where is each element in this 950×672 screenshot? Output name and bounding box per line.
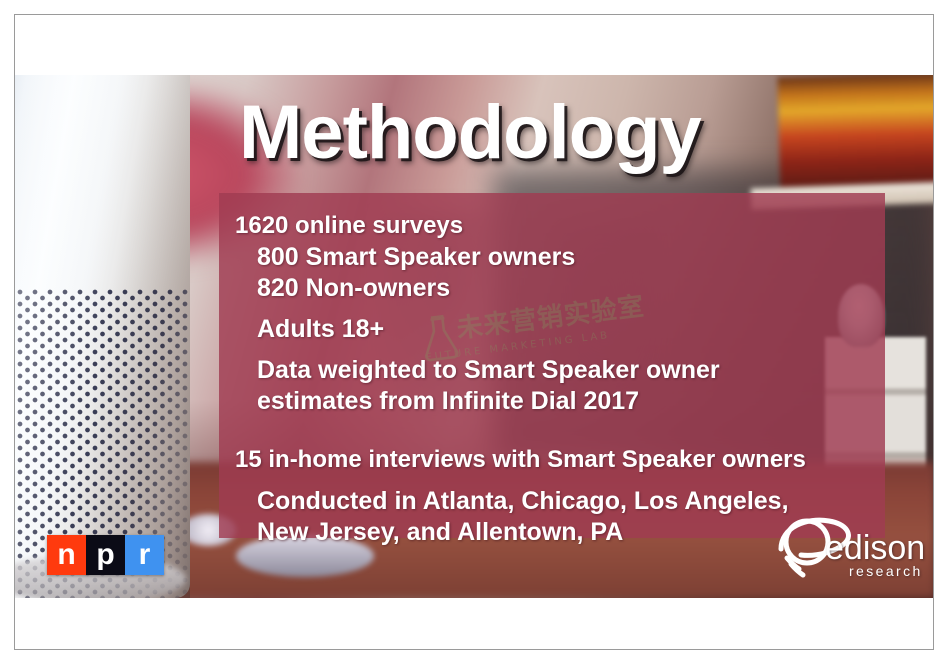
smart-speaker-icon: [15, 75, 190, 598]
npr-letter-n: n: [47, 535, 86, 575]
edison-research-logo[interactable]: edison research: [773, 515, 934, 587]
edison-tagline: research: [849, 563, 923, 579]
npr-letter-p: p: [86, 535, 125, 575]
surveys-subline-owners: 800 Smart Speaker owners: [257, 242, 861, 273]
interviews-cities-2: New Jersey, and Allentown, PA: [257, 517, 861, 548]
slide-frame: Methodology 1620 online surveys 800 Smar…: [14, 14, 934, 650]
methodology-block-interviews: 15 in-home interviews with Smart Speaker…: [235, 443, 861, 548]
surveys-heading: 1620 online surveys: [235, 209, 861, 242]
spacer: [235, 345, 861, 355]
slide-background-photo: Methodology 1620 online surveys 800 Smar…: [15, 75, 934, 598]
framed-artwork: [777, 75, 934, 192]
interviews-cities-1: Conducted in Atlanta, Chicago, Los Angel…: [257, 486, 861, 517]
surveys-detail-weighting-2: estimates from Infinite Dial 2017: [257, 386, 861, 417]
methodology-content-panel: 1620 online surveys 800 Smart Speaker ow…: [219, 193, 885, 538]
interviews-heading: 15 in-home interviews with Smart Speaker…: [235, 443, 861, 476]
spacer: [235, 304, 861, 314]
speaker-shading: [15, 75, 190, 598]
npr-logo[interactable]: n p r: [47, 535, 164, 575]
spacer: [235, 417, 861, 443]
npr-letter-r: r: [125, 535, 164, 575]
surveys-detail-weighting-1: Data weighted to Smart Speaker owner: [257, 355, 861, 386]
spacer: [235, 476, 861, 486]
page-title: Methodology: [239, 89, 701, 176]
surveys-detail-adults: Adults 18+: [257, 314, 861, 345]
surveys-subline-nonowners: 820 Non-owners: [257, 273, 861, 304]
methodology-block-surveys: 1620 online surveys 800 Smart Speaker ow…: [235, 209, 861, 417]
